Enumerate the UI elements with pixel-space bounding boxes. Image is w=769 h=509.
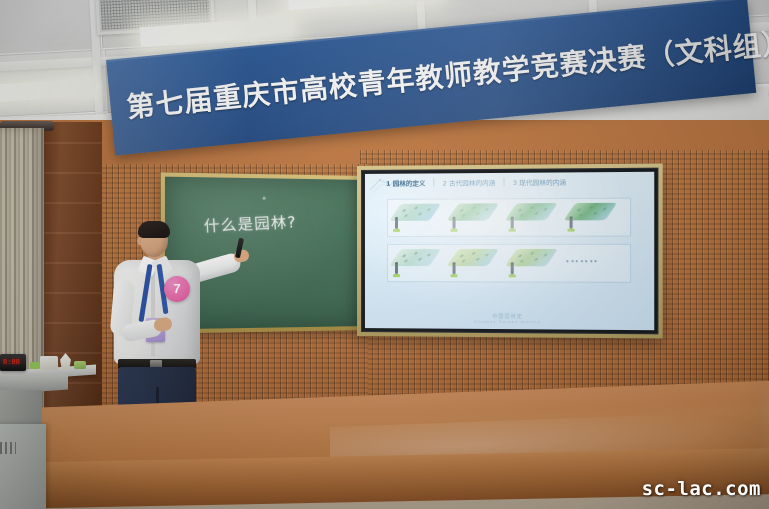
slide-tab-bar: 1 园林的定义 2 古代园林的内涵 3 现代园林的内涵 [383,175,569,188]
table-object-green [30,362,40,369]
table-object-white [40,356,58,370]
watermark: sc-lac.com [642,478,761,500]
list-item[interactable] [391,247,435,277]
thumbnail-row-1 [391,201,611,232]
presentation-slide: 1 园林的定义 2 古代园林的内涵 3 现代园林的内涵 [365,172,654,330]
thumbnail-row-2 [391,247,552,278]
slide-footer-subtitle: Chinese Garden History [475,320,541,325]
projection-screen-frame: 1 园林的定义 2 古代园林的内涵 3 现代园林的内涵 [357,163,663,338]
slide-tab-1[interactable]: 1 园林的定义 [383,176,429,188]
list-item[interactable] [565,201,611,232]
table-model-pavilion [60,353,71,370]
slide-tab-2-index: 2 [443,179,447,187]
screen-bezel: 1 园林的定义 2 古代园林的内涵 3 现代园林的内涵 [361,168,658,335]
list-item[interactable] [448,247,493,277]
floor-cabinet [0,424,46,509]
slide-tab-2-label: 古代园林的内涵 [449,179,495,187]
photo-scene: 第七届重庆市高校青年教师教学竞赛决赛（文科组） 什么是园林? 1 园林的定义 [0,0,769,509]
list-item[interactable] [448,201,493,231]
contestant-number-badge: 7 [164,276,190,302]
slide-tab-3-label: 现代园林的内涵 [519,179,566,187]
table-object-green-2 [74,361,86,369]
slide-tab-3[interactable]: 3 现代园林的内涵 [510,175,570,188]
tab-divider [504,178,505,186]
presenter-hair [138,221,170,238]
slide-tab-2[interactable]: 2 古代园林的内涵 [440,176,499,189]
countdown-timer-device[interactable]: 8:88 [0,354,26,371]
list-item[interactable] [507,201,552,232]
slide-tab-3-index: 3 [513,179,517,187]
slide-tab-1-label: 园林的定义 [393,180,426,188]
shirt-placket [151,270,155,356]
ellipsis-placeholder [566,260,596,262]
list-item[interactable] [507,247,552,278]
presenter-ear [137,237,142,245]
slide-tab-1-index: 1 [386,180,391,188]
slide-footer: 中国园林史 Chinese Garden History [475,313,541,325]
timer-display: 8:88 [3,358,20,366]
tab-divider [434,178,435,186]
list-item[interactable] [391,202,435,232]
